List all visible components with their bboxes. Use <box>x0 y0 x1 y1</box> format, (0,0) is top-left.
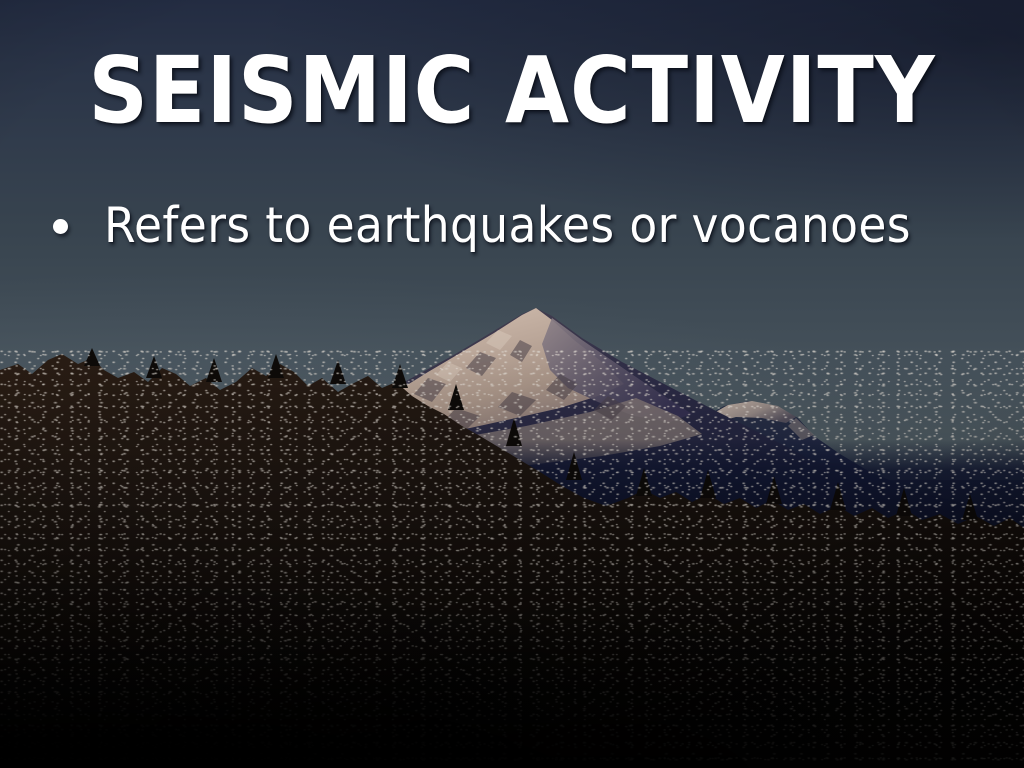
bullet-point-icon <box>53 219 68 234</box>
bullet-item-text: Refers to earthquakes or vocanoes <box>104 196 911 256</box>
presentation-slide: SEISMIC ACTIVITY Refers to earthquakes o… <box>0 0 1024 768</box>
slide-title: SEISMIC ACTIVITY <box>51 42 973 140</box>
slide-text-layer: SEISMIC ACTIVITY Refers to earthquakes o… <box>0 0 1024 768</box>
bullet-list-item: Refers to earthquakes or vocanoes <box>0 196 1024 256</box>
